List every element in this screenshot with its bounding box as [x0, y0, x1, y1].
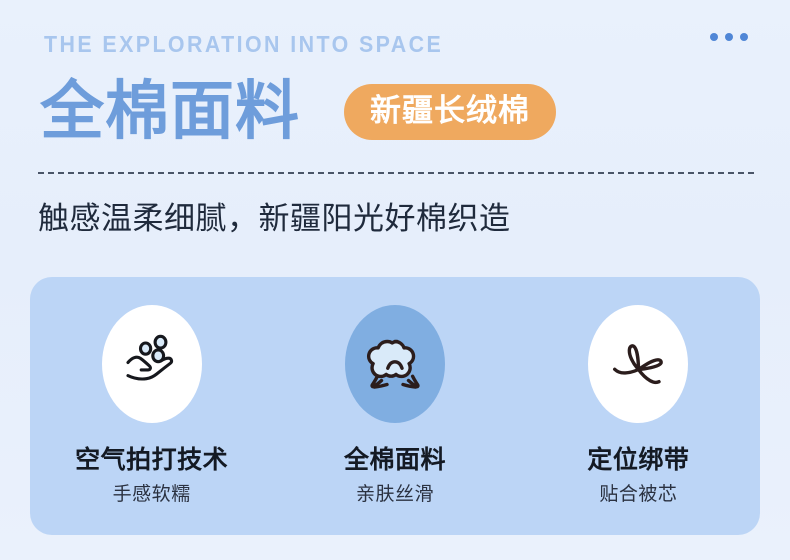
page-title: 全棉面料	[40, 76, 300, 148]
cotton-boll-icon	[345, 305, 445, 423]
feature-item-air-beating: 空气拍打技术 手感软糯	[30, 277, 273, 506]
origin-badge: 新疆长绒棉	[344, 84, 556, 140]
headline-row: 全棉面料 新疆长绒棉	[40, 71, 556, 153]
dot-1	[710, 33, 718, 41]
dot-2	[725, 33, 733, 41]
feature-item-fixing-ties: 定位绑带 贴合被芯	[517, 277, 760, 506]
ribbon-bow-icon	[588, 305, 688, 423]
hand-with-bubbles-icon	[102, 305, 202, 423]
feature-card: 空气拍打技术 手感软糯 全棉面料 亲肤丝滑	[30, 277, 760, 535]
feature-title: 定位绑带	[587, 445, 689, 475]
dashed-divider	[38, 172, 754, 174]
feature-item-cotton-fabric: 全棉面料 亲肤丝滑	[273, 277, 516, 506]
subheadline: 触感温柔细腻，新疆阳光好棉织造	[38, 199, 511, 239]
dot-3	[740, 33, 748, 41]
three-dots-icon	[710, 33, 748, 41]
promo-page: THE EXPLORATION INTO SPACE 全棉面料 新疆长绒棉 触感…	[0, 0, 790, 560]
feature-subtitle: 亲肤丝滑	[356, 482, 434, 506]
feature-subtitle: 手感软糯	[113, 482, 191, 506]
feature-subtitle: 贴合被芯	[599, 482, 677, 506]
feature-title: 全棉面料	[344, 445, 446, 475]
feature-title: 空气拍打技术	[75, 445, 228, 475]
eyebrow-text: THE EXPLORATION INTO SPACE	[44, 31, 443, 58]
